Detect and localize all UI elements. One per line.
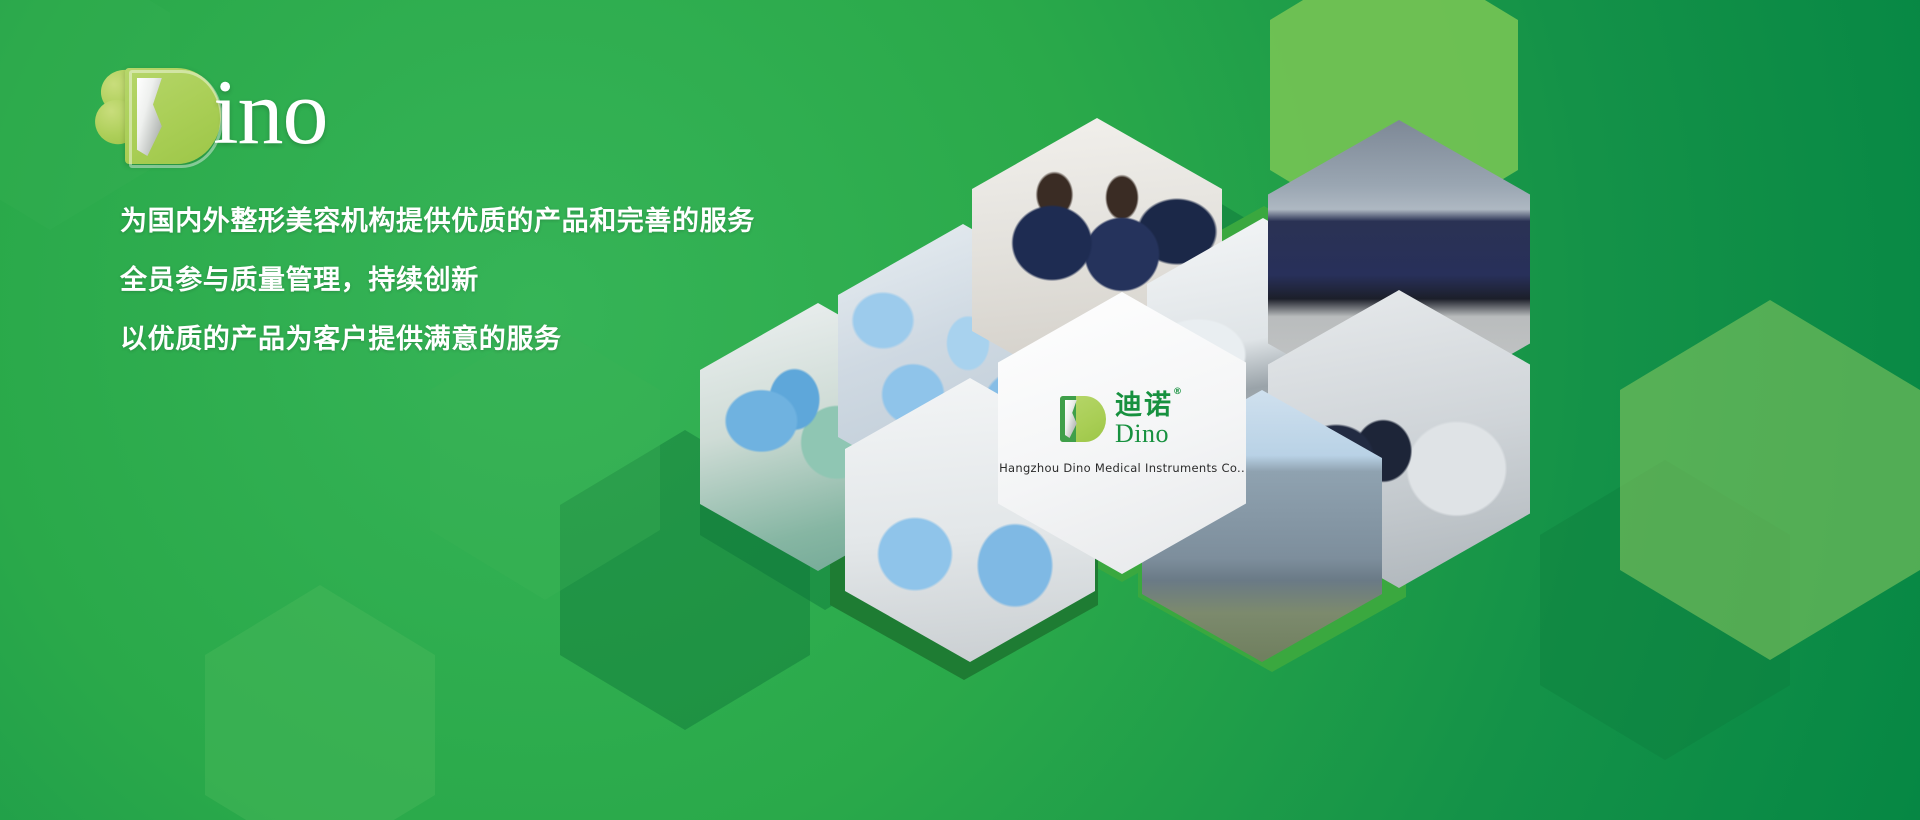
- center-logo-en: Dino: [1115, 421, 1184, 447]
- center-logo-words: 迪诺® Dino: [1115, 392, 1184, 447]
- bg-hex-light-bottomleft: [205, 585, 435, 820]
- dino-logo[interactable]: ino: [95, 62, 425, 166]
- hexagon-photo-cluster: 迪诺® Dino Hangzhou Dino Medical Instrumen…: [660, 100, 1920, 620]
- center-logo-cn: 迪诺®: [1115, 392, 1184, 419]
- d-outline-shape: [129, 70, 223, 168]
- registered-mark-icon: ®: [1173, 387, 1184, 397]
- center-logo-mark: 迪诺® Dino: [1060, 392, 1184, 447]
- brand-wordmark: ino: [213, 64, 328, 160]
- center-letter-d-icon: [1060, 396, 1106, 442]
- center-company-name: Hangzhou Dino Medical Instruments Co..: [999, 461, 1245, 475]
- hero-banner: ino 为国内外整形美容机构提供优质的产品和完善的服务 全员参与质量管理，持续创…: [0, 0, 1920, 820]
- letter-d-icon: [125, 68, 221, 164]
